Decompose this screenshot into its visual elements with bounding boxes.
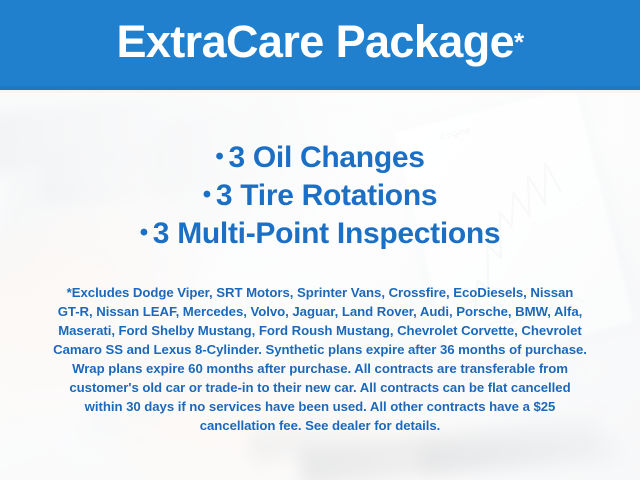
disclaimer-text: *Excludes Dodge Viper, SRT Motors, Sprin…: [18, 283, 622, 435]
extracare-package-ad: Engine ExtraCare Package* •3 Oil Changes…: [0, 0, 640, 480]
bullet-dot-icon: •: [215, 143, 223, 170]
list-item: •3 Tire Rotations: [0, 176, 640, 214]
benefits-list: •3 Oil Changes •3 Tire Rotations •3 Mult…: [0, 138, 640, 252]
disclaimer-line: Camaro SS and Lexus 8-Cylinder. Syntheti…: [18, 340, 622, 359]
disclaimer-line: within 30 days if no services have been …: [18, 397, 622, 416]
disclaimer-line: *Excludes Dodge Viper, SRT Motors, Sprin…: [18, 283, 622, 302]
list-item: •3 Oil Changes: [0, 138, 640, 176]
bullet-dot-icon: •: [203, 181, 211, 208]
disclaimer-line: Maserati, Ford Shelby Mustang, Ford Rous…: [18, 321, 622, 340]
list-item-label: 3 Tire Rotations: [216, 179, 437, 212]
header-banner-hairline: [0, 90, 640, 93]
list-item-label: 3 Oil Changes: [228, 141, 424, 174]
disclaimer-line: Wrap plans expire 60 months after purcha…: [18, 359, 622, 378]
list-item: •3 Multi-Point Inspections: [0, 214, 640, 252]
bullet-dot-icon: •: [140, 219, 148, 246]
disclaimer-line: GT-R, Nissan LEAF, Mercedes, Volvo, Jagu…: [18, 302, 622, 321]
disclaimer-line: cancellation fee. See dealer for details…: [18, 416, 622, 435]
list-item-label: 3 Multi-Point Inspections: [153, 217, 501, 250]
disclaimer-line: customer's old car or trade-in to their …: [18, 378, 622, 397]
page-title-text: ExtraCare Package: [116, 19, 514, 64]
page-title: ExtraCare Package*: [0, 0, 640, 86]
